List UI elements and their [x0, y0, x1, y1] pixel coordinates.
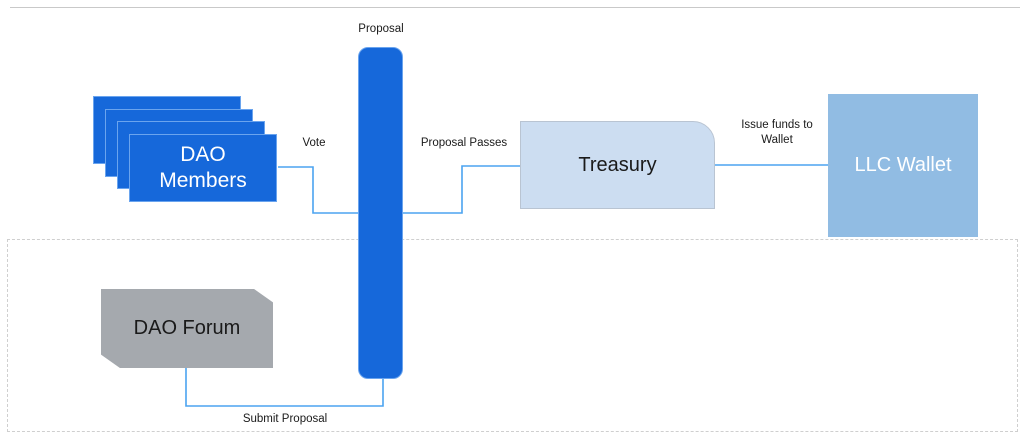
dao-members-label-line2: Members — [159, 169, 247, 192]
dao-members-label-line1: DAO — [180, 143, 226, 166]
issue-funds-edge-label: Issue funds to Wallet — [717, 118, 837, 147]
submit-proposal-edge-label: Submit Proposal — [212, 412, 358, 427]
diagram-canvas: DAO Members Proposal Treasury LLC Wallet… — [0, 0, 1027, 443]
proposal-passes-edge-label: Proposal Passes — [405, 136, 523, 151]
proposal-caption: Proposal — [331, 23, 431, 35]
dao-forum-node[interactable]: DAO Forum — [101, 289, 273, 368]
dao-members-card-front: DAO Members — [129, 134, 277, 202]
dao-members-node[interactable]: DAO Members — [93, 96, 278, 202]
treasury-label: Treasury — [521, 122, 714, 208]
llc-wallet-label: LLC Wallet — [828, 94, 978, 237]
issue-funds-label-line2: Wallet — [761, 134, 793, 146]
proposal-passes-connector — [403, 166, 521, 213]
llc-wallet-node[interactable]: LLC Wallet — [828, 94, 978, 237]
top-divider-rule — [10, 7, 1020, 8]
dao-forum-label: DAO Forum — [101, 289, 273, 368]
treasury-node[interactable]: Treasury — [520, 121, 715, 209]
proposal-node[interactable] — [358, 47, 403, 379]
vote-edge-label: Vote — [283, 136, 345, 151]
dao-members-label: DAO Members — [130, 135, 276, 201]
issue-funds-label-line1: Issue funds to — [741, 119, 813, 131]
vote-connector — [278, 167, 359, 213]
